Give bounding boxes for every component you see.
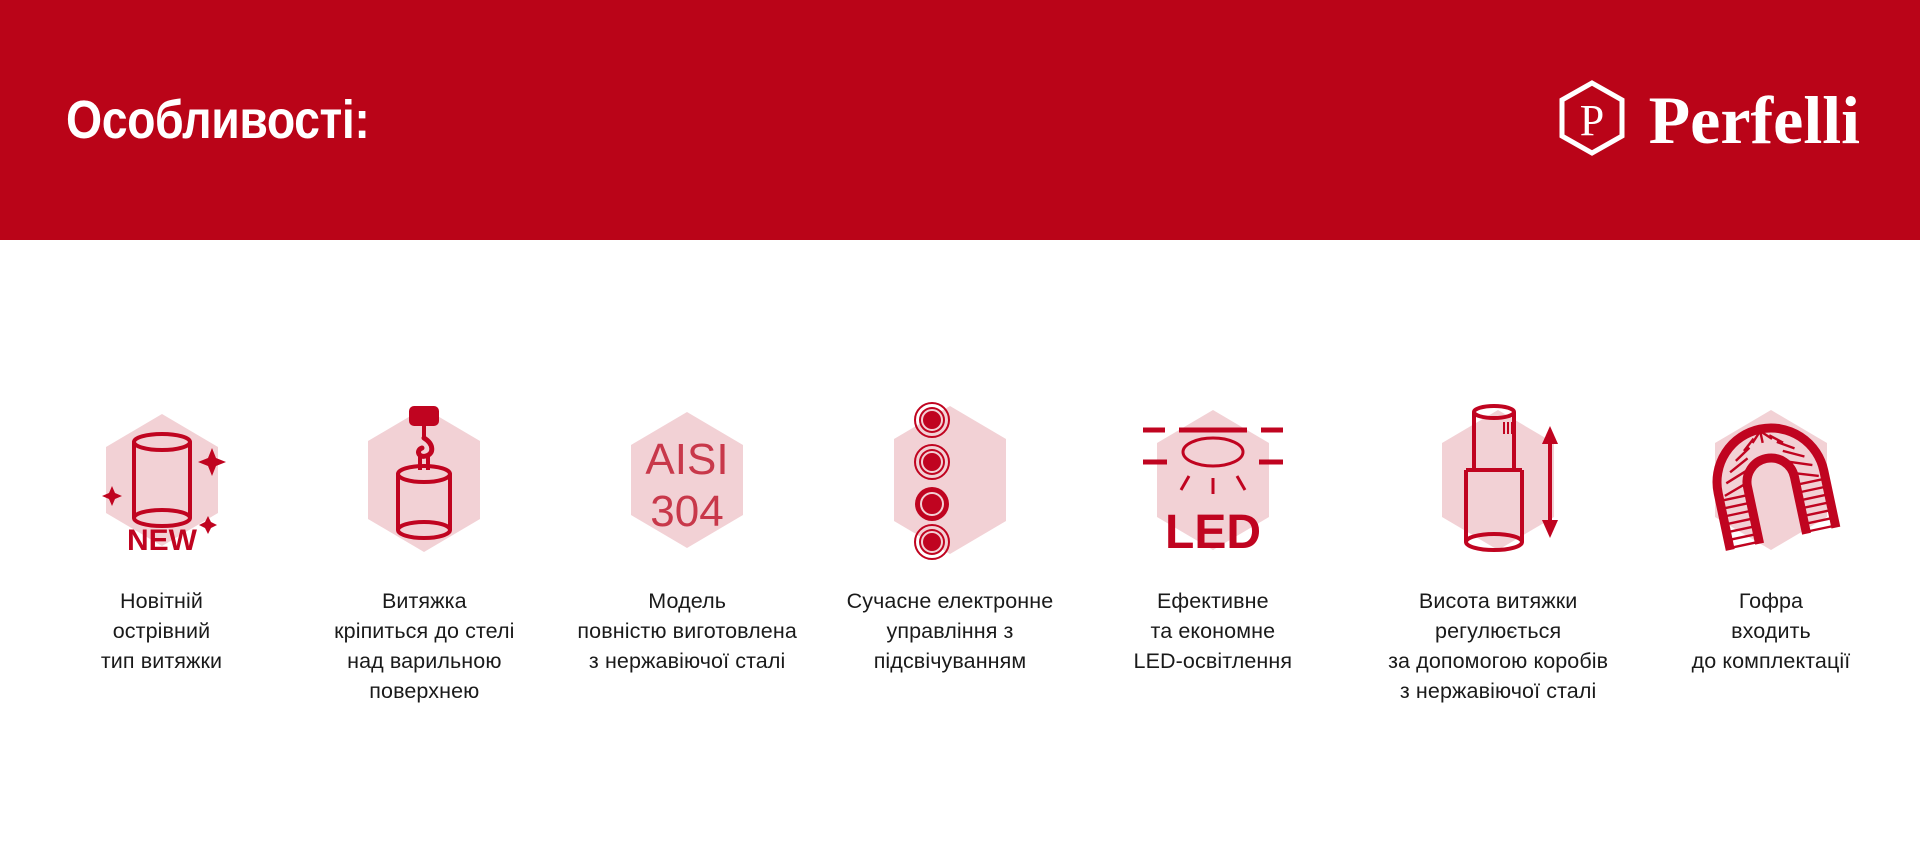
led-lighting-icon: LED (1123, 390, 1303, 570)
new-badge-label: NEW (127, 524, 198, 557)
aisi-label: AISI (646, 435, 729, 484)
feature-caption: Ефективне та економне LED-освітлення (1134, 586, 1293, 676)
feature-item-led-lighting: LED Ефективне та економне LED-освітлення (1085, 390, 1340, 676)
svg-text:P: P (1579, 96, 1603, 145)
grade-label: 304 (650, 487, 723, 536)
feature-slide: Особливості: P Perfelli (0, 0, 1920, 860)
aisi-304-steel-icon: AISI 304 (597, 390, 777, 570)
new-island-hood-icon: NEW (72, 390, 252, 570)
corrugated-hose-icon (1681, 390, 1861, 570)
led-badge-label: LED (1165, 506, 1261, 559)
page-title: Особливості: (66, 93, 369, 147)
feature-item-height-adjustable: Висота витяжки регулюється за допомогою … (1348, 390, 1648, 706)
feature-item-electronic-control: Сучасне електронне управління з підсвічу… (822, 390, 1077, 676)
feature-item-new-island-hood: NEW Новітній острівний тип витяжки (34, 390, 289, 676)
feature-caption: Гофра входить до комплектації (1692, 586, 1851, 676)
feature-item-corrugated-hose: Гофра входить до комплектації (1656, 390, 1886, 676)
feature-caption: Модель повністю виготовлена з нержавіючо… (577, 586, 796, 676)
brand-logo: P Perfelli (1557, 80, 1860, 161)
feature-caption: Витяжка кріпиться до стелі над варильною… (334, 586, 514, 706)
feature-item-ceiling-mount: Витяжка кріпиться до стелі над варильною… (297, 390, 552, 706)
height-adjustable-duct-icon (1408, 390, 1588, 570)
feature-caption: Висота витяжки регулюється за допомогою … (1388, 586, 1608, 706)
ceiling-mount-hook-icon (334, 390, 514, 570)
feature-caption: Сучасне електронне управління з підсвічу… (847, 586, 1054, 676)
electronic-control-buttons-icon (860, 390, 1040, 570)
features-row: NEW Новітній острівний тип витяжки (0, 240, 1920, 860)
brand-name: Perfelli (1649, 86, 1860, 154)
feature-caption: Новітній острівний тип витяжки (101, 586, 222, 676)
hexagon-p-logo-icon: P (1557, 80, 1627, 161)
feature-item-aisi-304: AISI 304 Модель повністю виготовлена з н… (560, 390, 815, 676)
header-bar: Особливості: P Perfelli (0, 0, 1920, 240)
